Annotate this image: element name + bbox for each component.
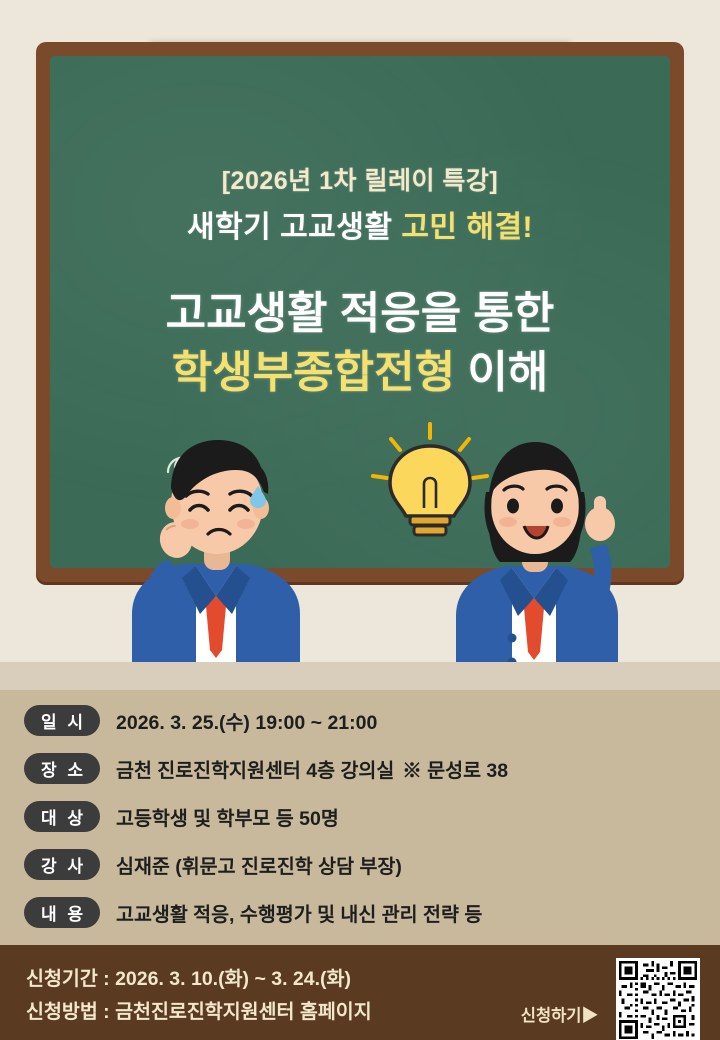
info-value-date: 2026. 3. 25.(수) 19:00 ~ 21:00 xyxy=(116,706,377,735)
footer-section: 신청기간 : 2026. 3. 10.(화) ~ 3. 24.(화) 신청방법 … xyxy=(0,945,720,1040)
subtitle: 새학기 고교생활 고민 해결! xyxy=(50,202,670,246)
qr-code-icon[interactable] xyxy=(616,958,700,1040)
info-label-audience: 대 상 xyxy=(24,801,100,832)
info-row: 일 시 2026. 3. 25.(수) 19:00 ~ 21:00 xyxy=(24,704,377,736)
main-title-line2: 학생부종합전형 이해 xyxy=(50,343,670,402)
poster: [2026년 1차 릴레이 특강] 새학기 고교생활 고민 해결! 고교생활 적… xyxy=(0,0,720,1040)
info-row: 강 사 심재준 (휘문고 진로진학 상담 부장) xyxy=(24,848,402,880)
tag-line: [2026년 1차 릴레이 특강] xyxy=(50,161,670,197)
subtitle-part1: 새학기 고교생활 xyxy=(187,211,401,244)
info-label-lecturer: 강 사 xyxy=(24,849,100,880)
subtitle-accent: 고민 해결! xyxy=(401,211,533,244)
info-value-audience: 고등학생 및 학부모 등 50명 xyxy=(116,802,339,831)
illustration-characters xyxy=(0,400,720,690)
main-title-rest: 이해 xyxy=(455,348,548,397)
main-title: 고교생활 적응을 통한 학생부종합전형 이해 xyxy=(50,284,670,403)
characters-svg xyxy=(0,400,720,690)
floor-strip xyxy=(0,662,720,690)
cheerful-student xyxy=(456,442,618,690)
info-row: 내 용 고교생활 적응, 수행평가 및 내신 관리 전략 등 xyxy=(24,896,482,928)
main-title-highlight: 학생부종합전형 xyxy=(172,348,455,397)
info-value-lecturer: 심재준 (휘문고 진로진학 상담 부장) xyxy=(116,850,402,879)
main-title-line1: 고교생활 적응을 통한 xyxy=(50,284,670,343)
info-label-date: 일 시 xyxy=(24,705,100,736)
qr-code-svg xyxy=(619,961,697,1039)
info-row: 대 상 고등학생 및 학부모 등 50명 xyxy=(24,800,339,832)
application-method: 신청방법 : 금천진로진학지원센터 홈페이지 xyxy=(26,995,372,1024)
worried-student xyxy=(132,440,300,690)
apply-link[interactable]: 신청하기▶ xyxy=(521,1002,598,1026)
info-label-content: 내 용 xyxy=(24,897,100,928)
info-value-place: 금천 진로진학지원센터 4층 강의실 xyxy=(116,754,394,783)
info-value-content: 고교생활 적응, 수행평가 및 내신 관리 전략 등 xyxy=(116,898,482,927)
lightbulb-icon xyxy=(373,424,487,535)
info-label-place: 장 소 xyxy=(24,753,100,784)
info-note-place: ※ 문성로 38 xyxy=(402,754,508,783)
application-period: 신청기간 : 2026. 3. 10.(화) ~ 3. 24.(화) xyxy=(26,962,351,991)
info-section: 일 시 2026. 3. 25.(수) 19:00 ~ 21:00 장 소 금천… xyxy=(0,690,720,945)
info-row: 장 소 금천 진로진학지원센터 4층 강의실 ※ 문성로 38 xyxy=(24,752,508,784)
